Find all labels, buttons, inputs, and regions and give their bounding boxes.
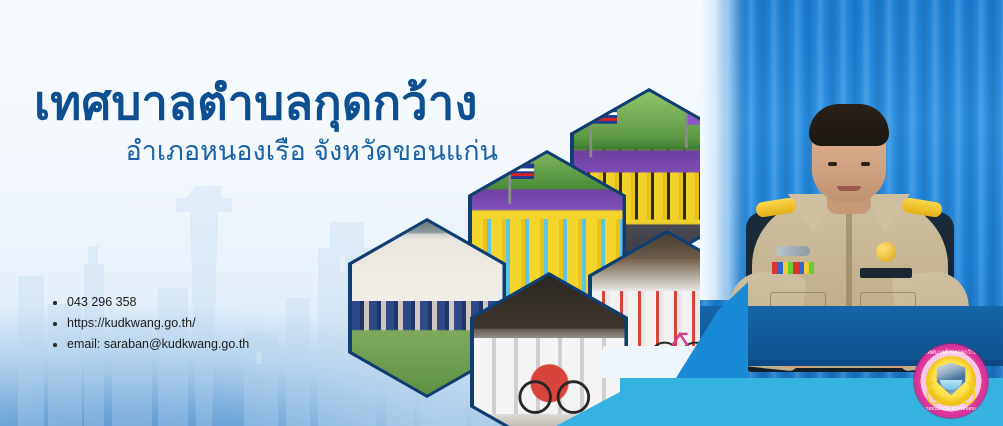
- rank-insignia-icon: [876, 242, 896, 262]
- eye-left: [828, 162, 837, 166]
- name-plate: [860, 268, 912, 278]
- seal-bottom-text: อำเภอหนองเรือ จังหวัดขอนแก่น: [914, 405, 988, 413]
- wing-badge-icon: [776, 246, 810, 256]
- municipality-banner: เทศบาลตำบลกุดกว้าง อำเภอหนองเรือ จังหวัด…: [0, 0, 1003, 426]
- municipality-seal[interactable]: เทศบาลตำบลกุดกว้าง อำเภอหนองเรือ จังหวัด…: [914, 344, 988, 418]
- title-block: เทศบาลตำบลกุดกว้าง อำเภอหนองเรือ จังหวัด…: [0, 78, 620, 167]
- contact-list: 043 296 358 https://kudkwang.go.th/ emai…: [52, 292, 249, 355]
- contact-email[interactable]: email: saraban@kudkwang.go.th: [52, 334, 249, 355]
- hair: [809, 104, 889, 146]
- page-title: เทศบาลตำบลกุดกว้าง: [0, 78, 620, 128]
- contact-website[interactable]: https://kudkwang.go.th/: [52, 313, 249, 334]
- eye-right: [861, 162, 870, 166]
- contact-phone[interactable]: 043 296 358: [52, 292, 249, 313]
- mouth: [837, 186, 861, 191]
- ribbon-bar-icon: [772, 262, 814, 274]
